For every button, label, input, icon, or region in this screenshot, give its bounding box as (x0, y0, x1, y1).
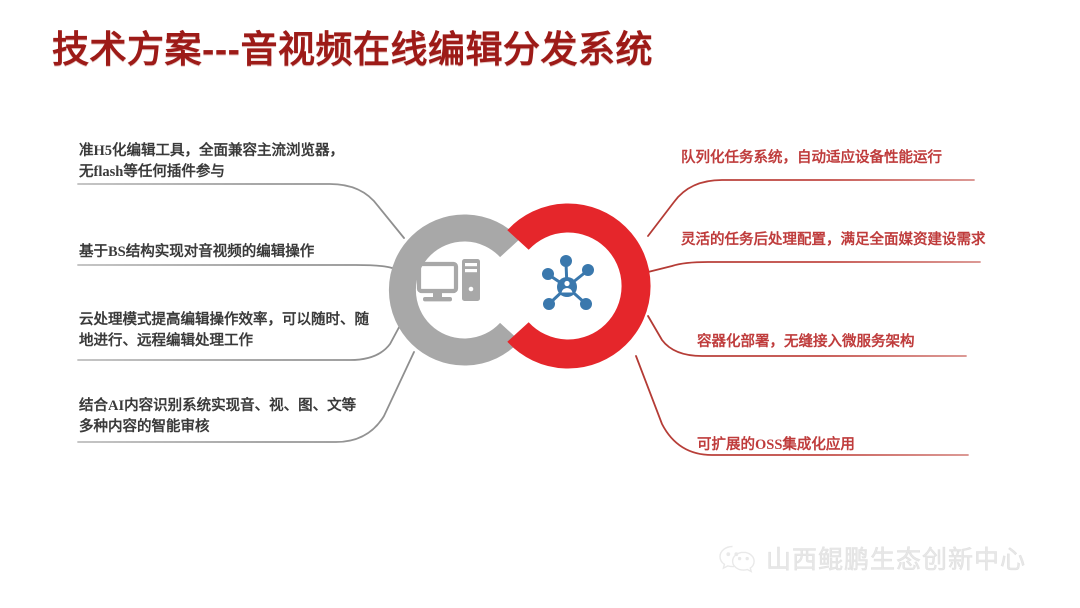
right-branch-2 (648, 262, 980, 272)
watermark: 山西鲲鹏生态创新中心 (718, 540, 1026, 576)
left-item-2: 基于BS结构实现对音视频的编辑操作 (79, 242, 379, 263)
left-item-4: 结合AI内容识别系统实现音、视、图、文等 多种内容的智能审核 (79, 396, 379, 438)
left-item-3: 云处理模式提高编辑操作效率，可以随时、随 地进行、远程编辑处理工作 (79, 310, 379, 352)
wechat-logo-icon (718, 543, 758, 573)
diagram-graphic (0, 0, 1080, 608)
right-item-2: 灵活的任务后处理配置，满足全面媒资建设需求 (681, 230, 1011, 251)
right-branch-group (636, 180, 980, 455)
desktop-computer-icon (419, 259, 480, 301)
left-branch-1 (78, 184, 404, 238)
left-item-1: 准H5化编辑工具，全面兼容主流浏览器， 无flash等任何插件参与 (79, 141, 379, 183)
left-branch-2 (78, 265, 404, 272)
right-item-1: 队列化任务系统，自动适应设备性能运行 (681, 148, 1011, 169)
cloud-ring (518, 218, 636, 354)
right-branch-1 (648, 180, 974, 236)
right-item-3: 容器化部署，无缝接入微服务架构 (697, 332, 1017, 353)
slide-canvas: 技术方案---音视频在线编辑分发系统 (0, 0, 1080, 608)
network-hub-icon (542, 255, 594, 310)
watermark-text: 山西鲲鹏生态创新中心 (766, 540, 1026, 576)
right-item-4: 可扩展的OSS集成化应用 (697, 435, 1017, 456)
